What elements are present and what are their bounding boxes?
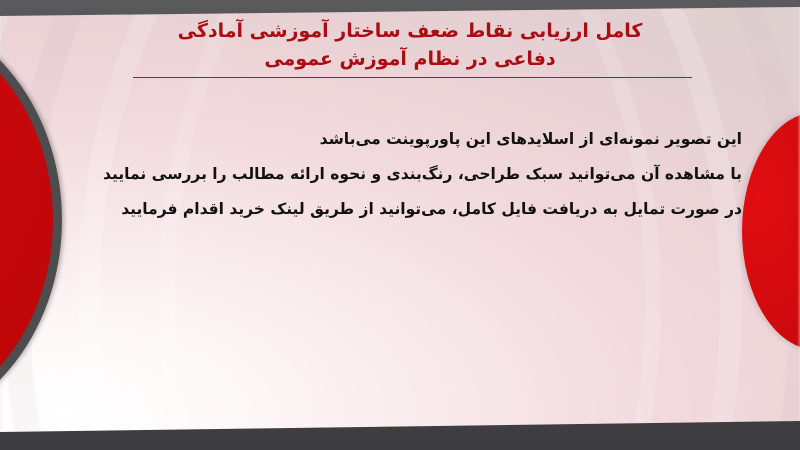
slide-body-text: این تصویر نمونه‌ای از اسلایدهای این پاور… — [52, 122, 742, 227]
title-line-2: دفاعی در نظام آموزش عمومی — [110, 45, 710, 73]
body-line-2: با مشاهده آن می‌توانید سبک طراحی، رنگ‌بن… — [52, 157, 742, 192]
presentation-slide: کامل ارزیابی نقاط ضعف ساختار آموزشی آماد… — [0, 0, 800, 450]
slide-content-plate: کامل ارزیابی نقاط ضعف ساختار آموزشی آماد… — [0, 0, 800, 450]
body-line-1: این تصویر نمونه‌ای از اسلایدهای این پاور… — [52, 122, 742, 157]
slide-title: کامل ارزیابی نقاط ضعف ساختار آموزشی آماد… — [110, 17, 710, 73]
body-line-3: در صورت تمایل به دریافت فایل کامل، می‌تو… — [52, 192, 742, 227]
title-line-1: کامل ارزیابی نقاط ضعف ساختار آموزشی آماد… — [110, 17, 710, 45]
title-underline-rule — [133, 77, 692, 78]
